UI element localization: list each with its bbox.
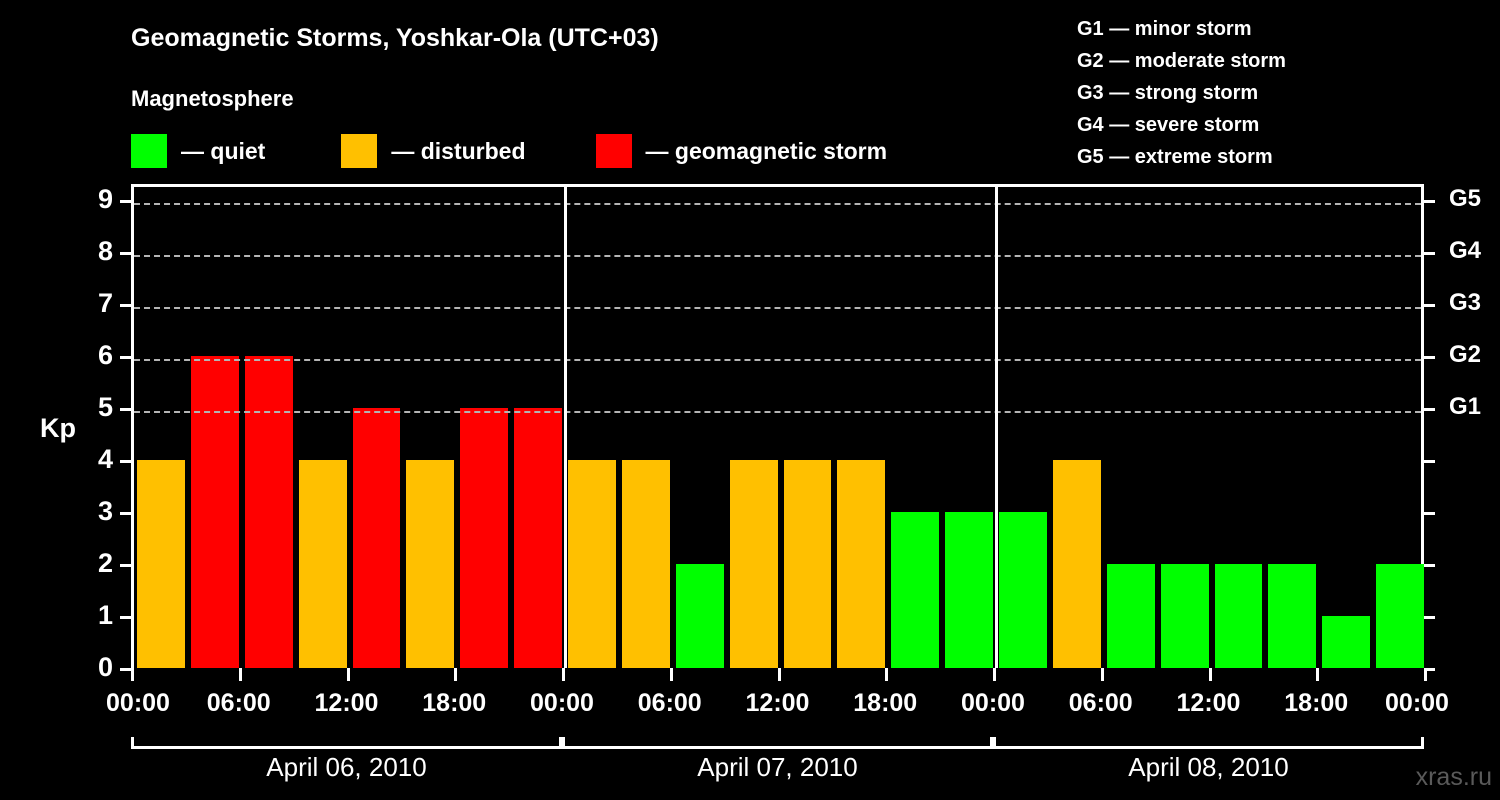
y-axis-tick-2 xyxy=(120,564,131,567)
g-axis-tick-kp-7 xyxy=(1424,304,1435,307)
y-axis-label-9: 9 xyxy=(73,186,113,213)
y-axis-label-7: 7 xyxy=(73,290,113,317)
x-axis-label-2: 12:00 xyxy=(315,689,379,718)
storm-legend-label: — geomagnetic storm xyxy=(646,138,888,165)
bar[interactable] xyxy=(191,356,239,668)
y-axis-tick-9 xyxy=(120,200,131,203)
x-axis-tick-8 xyxy=(993,668,996,681)
x-axis-label-0: 00:00 xyxy=(106,689,170,718)
y-axis-label-4: 4 xyxy=(73,446,113,473)
quiet-legend-swatch-icon xyxy=(131,134,167,168)
g-legend-row-2: G2 — moderate storm xyxy=(1077,45,1286,77)
bar[interactable] xyxy=(1107,564,1155,668)
x-axis-tick-12 xyxy=(1424,668,1427,681)
x-axis-tick-3 xyxy=(454,668,457,681)
bar[interactable] xyxy=(514,408,562,668)
bar[interactable] xyxy=(891,512,939,668)
bar[interactable] xyxy=(1322,616,1370,668)
geomagnetic-storm-chart: Geomagnetic Storms, Yoshkar-Ola (UTC+03)… xyxy=(0,0,1500,800)
g-legend-row-1: G1 — minor storm xyxy=(1077,13,1286,45)
date-label-1: April 06, 2010 xyxy=(266,752,426,783)
g-axis-tick-kp-3 xyxy=(1424,512,1435,515)
day-separator-2 xyxy=(995,187,998,668)
gridline-kp-7 xyxy=(134,307,1421,309)
g-axis-label-G5: G5 xyxy=(1449,187,1500,211)
x-axis-label-5: 06:00 xyxy=(638,689,702,718)
y-axis-title: Kp xyxy=(40,413,76,444)
x-axis-tick-11 xyxy=(1316,668,1319,681)
date-label-3: April 08, 2010 xyxy=(1128,752,1288,783)
disturbed-legend: — disturbed xyxy=(341,133,525,169)
x-axis-label-8: 00:00 xyxy=(961,689,1025,718)
g-axis-label-G3: G3 xyxy=(1449,291,1500,315)
x-axis-tick-1 xyxy=(239,668,242,681)
bar[interactable] xyxy=(353,408,401,668)
disturbed-legend-label: — disturbed xyxy=(391,138,525,165)
bar[interactable] xyxy=(137,460,185,668)
y-axis-label-6: 6 xyxy=(73,342,113,369)
date-bracket-2 xyxy=(562,737,993,749)
x-axis-label-7: 18:00 xyxy=(853,689,917,718)
y-axis-label-3: 3 xyxy=(73,498,113,525)
x-axis-tick-9 xyxy=(1101,668,1104,681)
x-axis-tick-2 xyxy=(347,668,350,681)
gridline-kp-9 xyxy=(134,203,1421,205)
g-axis-tick-kp-1 xyxy=(1424,616,1435,619)
y-axis-label-0: 0 xyxy=(73,654,113,681)
y-axis-tick-8 xyxy=(120,252,131,255)
y-axis-tick-5 xyxy=(120,408,131,411)
x-axis-label-4: 00:00 xyxy=(530,689,594,718)
bar[interactable] xyxy=(568,460,616,668)
plot-inner xyxy=(134,187,1421,668)
storm-legend: — geomagnetic storm xyxy=(596,133,888,169)
bar[interactable] xyxy=(245,356,293,668)
y-axis-tick-7 xyxy=(120,304,131,307)
x-axis-tick-0 xyxy=(131,668,134,681)
date-label-2: April 07, 2010 xyxy=(697,752,857,783)
y-axis-tick-4 xyxy=(120,460,131,463)
bar[interactable] xyxy=(730,460,778,668)
g-axis-tick-kp-6 xyxy=(1424,356,1435,359)
watermark: xras.ru xyxy=(1416,763,1492,792)
gridline-kp-5 xyxy=(134,411,1421,413)
g-axis-tick-kp-5 xyxy=(1424,408,1435,411)
y-axis-label-8: 8 xyxy=(73,238,113,265)
y-axis-label-2: 2 xyxy=(73,550,113,577)
x-axis-label-9: 06:00 xyxy=(1069,689,1133,718)
y-axis-tick-6 xyxy=(120,356,131,359)
x-axis-tick-6 xyxy=(778,668,781,681)
bar[interactable] xyxy=(1161,564,1209,668)
y-axis-tick-3 xyxy=(120,512,131,515)
plot-area xyxy=(131,184,1424,668)
x-axis-label-11: 18:00 xyxy=(1284,689,1348,718)
g-scale-legend: G1 — minor stormG2 — moderate stormG3 — … xyxy=(1077,13,1286,173)
y-axis-tick-0 xyxy=(120,668,131,671)
bar[interactable] xyxy=(622,460,670,668)
bars-layer xyxy=(134,187,1421,668)
g-axis-tick-kp-4 xyxy=(1424,460,1435,463)
g-axis-tick-kp-9 xyxy=(1424,200,1435,203)
disturbed-legend-swatch-icon xyxy=(341,134,377,168)
y-axis-tick-1 xyxy=(120,616,131,619)
x-axis-tick-4 xyxy=(562,668,565,681)
day-separator-1 xyxy=(564,187,567,668)
g-axis-label-G4: G4 xyxy=(1449,239,1500,263)
bar[interactable] xyxy=(299,460,347,668)
g-axis-label-G2: G2 xyxy=(1449,343,1500,367)
date-bracket-3 xyxy=(993,737,1424,749)
g-axis-tick-kp-8 xyxy=(1424,252,1435,255)
bar[interactable] xyxy=(1215,564,1263,668)
x-axis-label-6: 12:00 xyxy=(746,689,810,718)
date-bracket-1 xyxy=(131,737,562,749)
color-legend: — quiet— disturbed— geomagnetic storm xyxy=(131,133,887,169)
bar[interactable] xyxy=(1376,564,1424,668)
bar[interactable] xyxy=(676,564,724,668)
g-legend-row-3: G3 — strong storm xyxy=(1077,77,1286,109)
bar[interactable] xyxy=(999,512,1047,668)
page-title: Geomagnetic Storms, Yoshkar-Ola (UTC+03) xyxy=(131,24,659,53)
bar[interactable] xyxy=(460,408,508,668)
g-axis-label-G1: G1 xyxy=(1449,395,1500,419)
g-legend-row-5: G5 — extreme storm xyxy=(1077,141,1286,173)
y-axis-label-1: 1 xyxy=(73,602,113,629)
x-axis-label-12: 00:00 xyxy=(1385,689,1449,718)
gridline-kp-6 xyxy=(134,359,1421,361)
x-axis-tick-5 xyxy=(670,668,673,681)
x-axis-tick-10 xyxy=(1209,668,1212,681)
chart-subtitle: Magnetosphere xyxy=(131,86,294,112)
bar[interactable] xyxy=(1268,564,1316,668)
bar[interactable] xyxy=(406,460,454,668)
x-axis-label-1: 06:00 xyxy=(207,689,271,718)
bar[interactable] xyxy=(784,460,832,668)
x-axis-tick-7 xyxy=(885,668,888,681)
quiet-legend: — quiet xyxy=(131,133,265,169)
gridline-kp-8 xyxy=(134,255,1421,257)
g-axis-tick-kp-2 xyxy=(1424,564,1435,567)
bar[interactable] xyxy=(945,512,993,668)
x-axis-label-10: 12:00 xyxy=(1177,689,1241,718)
bar[interactable] xyxy=(1053,460,1101,668)
storm-legend-swatch-icon xyxy=(596,134,632,168)
y-axis-label-5: 5 xyxy=(73,394,113,421)
g-legend-row-4: G4 — severe storm xyxy=(1077,109,1286,141)
x-axis-label-3: 18:00 xyxy=(422,689,486,718)
quiet-legend-label: — quiet xyxy=(181,138,265,165)
bar[interactable] xyxy=(837,460,885,668)
